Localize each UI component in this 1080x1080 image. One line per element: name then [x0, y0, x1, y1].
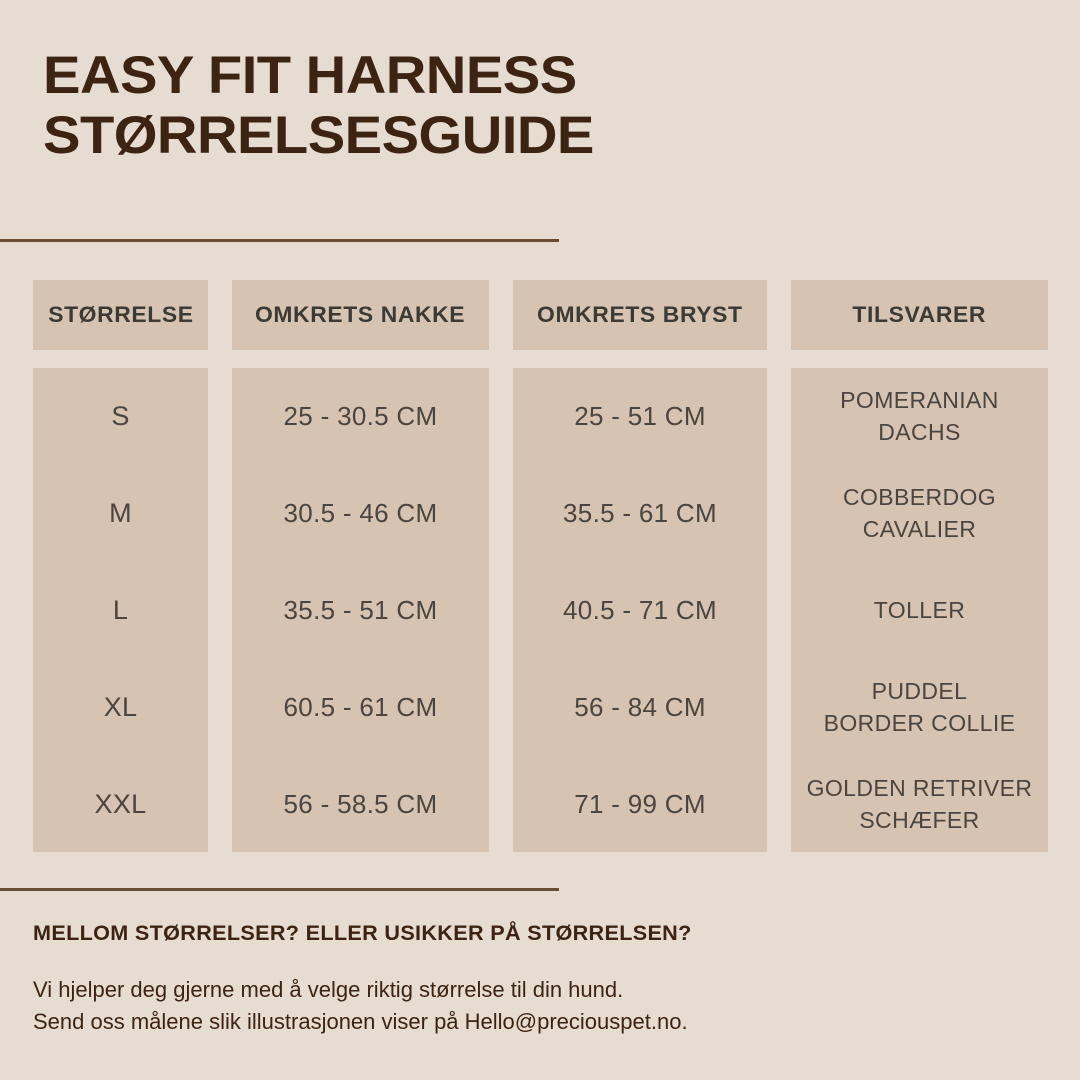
table-row: GOLDEN RETRIVER SCHÆFER — [791, 755, 1048, 852]
table-row: 40.5 - 71 CM — [513, 562, 767, 659]
cell-size: XXL — [95, 788, 147, 820]
size-table: STØRRELSE OMKRETS NAKKE OMKRETS BRYST TI… — [0, 0, 1080, 1080]
table-row: M — [33, 465, 208, 562]
cell-chest: 40.5 - 71 CM — [563, 594, 717, 626]
cell-neck: 56 - 58.5 CM — [284, 788, 438, 820]
table-row: XL — [33, 658, 208, 755]
footer-body: Vi hjelper deg gjerne med å velge riktig… — [33, 974, 1033, 1038]
cell-breed: CAVALIER — [863, 513, 977, 545]
column-chest: 25 - 51 CM 35.5 - 61 CM 40.5 - 71 CM 56 … — [513, 368, 767, 852]
column-neck: 25 - 30.5 CM 30.5 - 46 CM 35.5 - 51 CM 6… — [232, 368, 489, 852]
cell-breed: GOLDEN RETRIVER — [807, 772, 1033, 804]
header-label: TILSVARER — [853, 302, 987, 328]
table-row: 35.5 - 61 CM — [513, 465, 767, 562]
cell-size: XL — [104, 691, 138, 723]
cell-breed: DACHS — [878, 416, 961, 448]
cell-neck: 25 - 30.5 CM — [284, 400, 438, 432]
table-row: TOLLER — [791, 562, 1048, 659]
table-row: S — [33, 368, 208, 465]
footer-line-2: Send oss målene slik illustrasjonen vise… — [33, 1006, 1033, 1038]
cell-breed: COBBERDOG — [843, 481, 996, 513]
table-row: 35.5 - 51 CM — [232, 562, 489, 659]
table-row: 25 - 30.5 CM — [232, 368, 489, 465]
cell-chest: 71 - 99 CM — [574, 788, 706, 820]
cell-size: L — [113, 594, 128, 626]
cell-neck: 60.5 - 61 CM — [284, 691, 438, 723]
divider-bottom — [0, 888, 559, 891]
cell-breed: BORDER COLLIE — [824, 707, 1016, 739]
header-label: OMKRETS NAKKE — [255, 302, 465, 328]
cell-breed: SCHÆFER — [859, 804, 979, 836]
table-row: 25 - 51 CM — [513, 368, 767, 465]
cell-chest: 25 - 51 CM — [574, 400, 706, 432]
header-label: STØRRELSE — [48, 302, 193, 328]
cell-size: M — [109, 497, 132, 529]
header-label: OMKRETS BRYST — [537, 302, 743, 328]
table-header-neck: OMKRETS NAKKE — [232, 280, 489, 350]
table-row: PUDDEL BORDER COLLIE — [791, 658, 1048, 755]
footer-line-1: Vi hjelper deg gjerne med å velge riktig… — [33, 974, 1033, 1006]
footer-heading: MELLOM STØRRELSER? ELLER USIKKER PÅ STØR… — [33, 922, 1063, 946]
table-header-chest: OMKRETS BRYST — [513, 280, 767, 350]
table-header-breeds: TILSVARER — [791, 280, 1048, 350]
table-row: XXL — [33, 755, 208, 852]
cell-breed: TOLLER — [874, 594, 965, 626]
cell-neck: 35.5 - 51 CM — [284, 594, 438, 626]
cell-neck: 30.5 - 46 CM — [284, 497, 438, 529]
table-row: 60.5 - 61 CM — [232, 658, 489, 755]
cell-chest: 35.5 - 61 CM — [563, 497, 717, 529]
cell-size: S — [111, 400, 129, 432]
size-guide-page: EASY FIT HARNESS STØRRELSESGUIDE STØRREL… — [0, 0, 1080, 1080]
table-row: 56 - 58.5 CM — [232, 755, 489, 852]
table-row: 56 - 84 CM — [513, 658, 767, 755]
table-row: 71 - 99 CM — [513, 755, 767, 852]
table-row: L — [33, 562, 208, 659]
table-row: POMERANIAN DACHS — [791, 368, 1048, 465]
table-row: COBBERDOG CAVALIER — [791, 465, 1048, 562]
table-header-size: STØRRELSE — [33, 280, 208, 350]
footer-note: MELLOM STØRRELSER? ELLER USIKKER PÅ STØR… — [33, 922, 1033, 1038]
cell-chest: 56 - 84 CM — [574, 691, 706, 723]
cell-breed: PUDDEL — [872, 675, 968, 707]
column-size: S M L XL XXL — [33, 368, 208, 852]
table-row: 30.5 - 46 CM — [232, 465, 489, 562]
column-breeds: POMERANIAN DACHS COBBERDOG CAVALIER TOLL… — [791, 368, 1048, 852]
cell-breed: POMERANIAN — [840, 384, 999, 416]
